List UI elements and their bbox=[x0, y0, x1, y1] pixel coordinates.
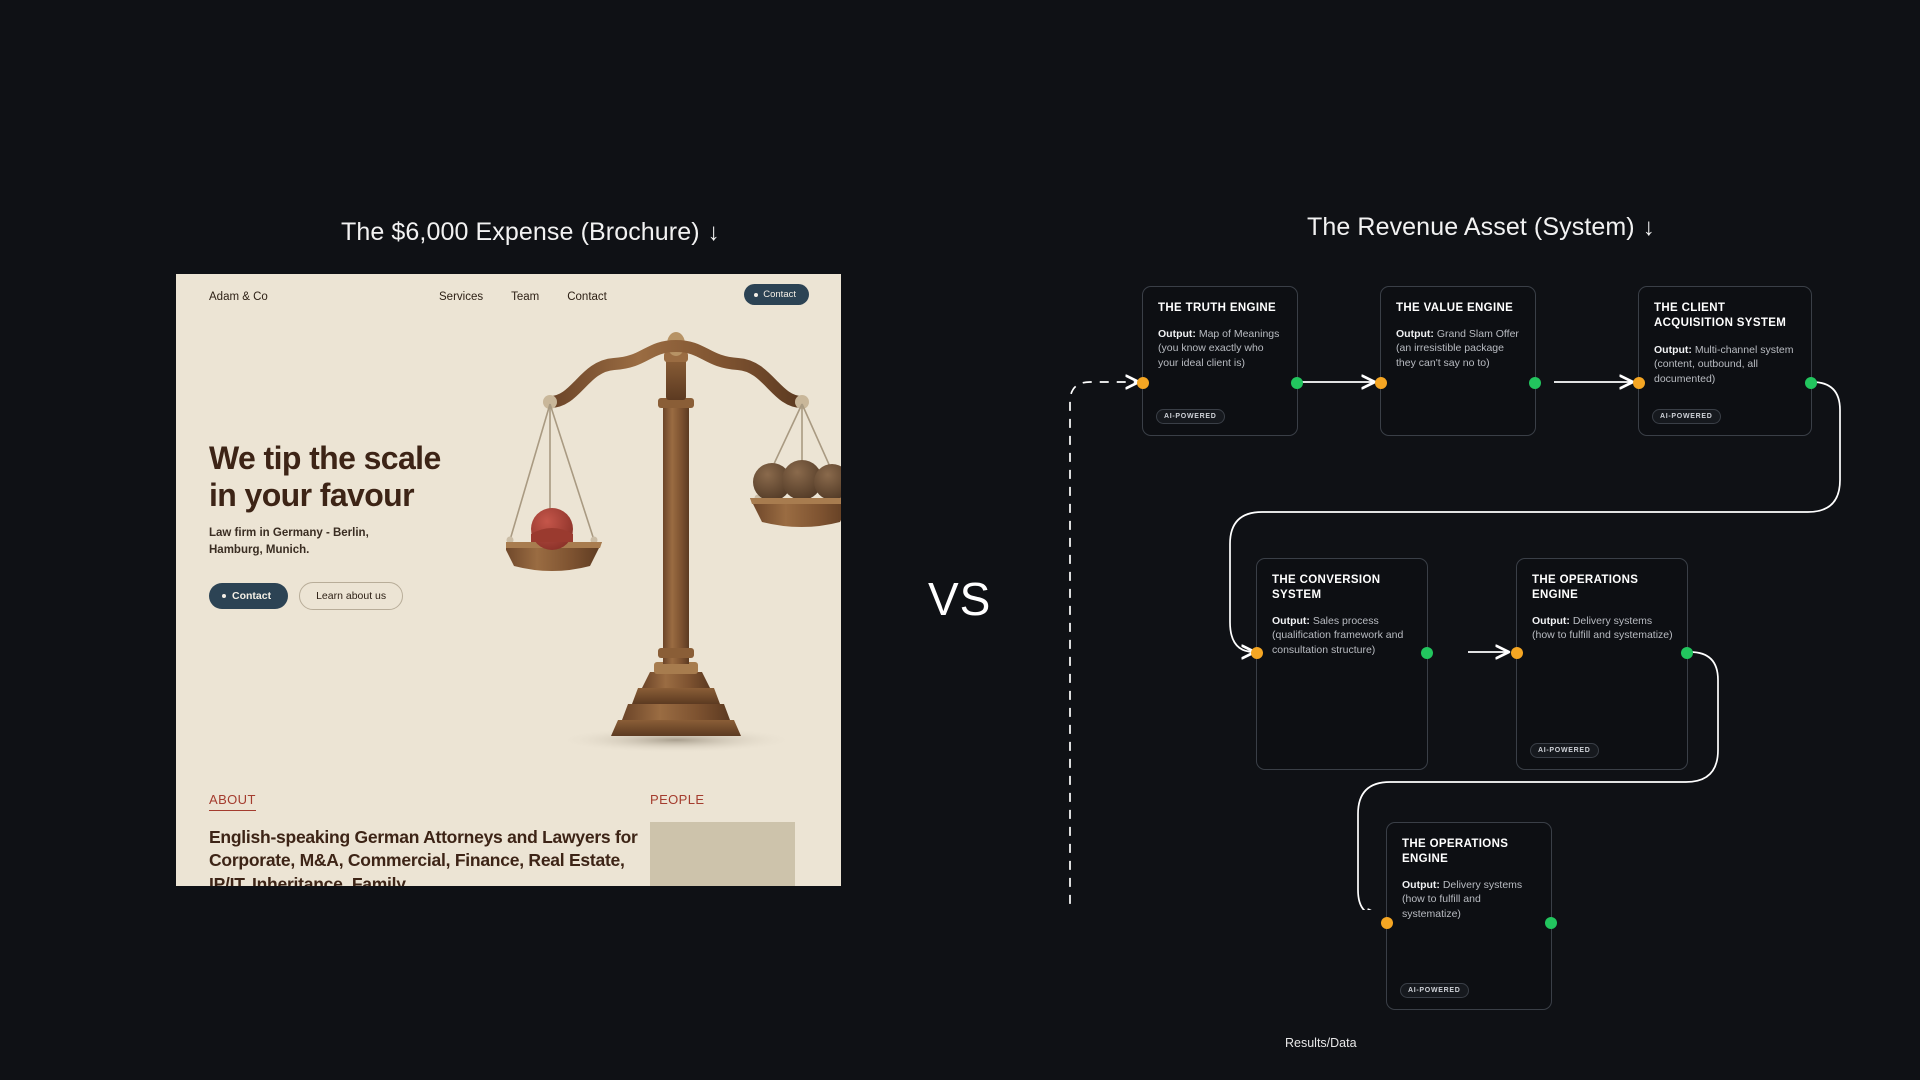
feedback-loop-label: Results/Data bbox=[1278, 1036, 1364, 1050]
ai-powered-badge: AI-POWERED bbox=[1652, 409, 1721, 424]
balance-scale-illustration bbox=[506, 322, 841, 762]
node-input-port[interactable] bbox=[1375, 377, 1387, 389]
node-output: Output: Grand Slam Offer (an irresistibl… bbox=[1396, 327, 1523, 370]
node-input-port[interactable] bbox=[1633, 377, 1645, 389]
node-output-port[interactable] bbox=[1529, 377, 1541, 389]
hero-title-line-1: We tip the scale bbox=[209, 440, 441, 477]
site-navbar: Adam & Co Services Team Contact Contact bbox=[176, 274, 841, 322]
output-prefix: Output: bbox=[1396, 328, 1434, 340]
people-section-kicker: PEOPLE bbox=[650, 792, 704, 807]
flow-node-operations-engine-row3[interactable]: THE OPERATIONS ENGINE Output: Delivery s… bbox=[1386, 822, 1552, 1010]
hero-button-group: Contact Learn about us bbox=[209, 582, 403, 610]
dot-icon bbox=[754, 293, 758, 297]
site-nav-links: Services Team Contact bbox=[439, 291, 607, 303]
flow-node-operations-engine-row2[interactable]: THE OPERATIONS ENGINE Output: Delivery s… bbox=[1516, 558, 1688, 770]
nav-contact-button-label: Contact bbox=[763, 289, 796, 300]
node-title: THE OPERATIONS ENGINE bbox=[1402, 837, 1539, 866]
node-output: Output: Multi-channel system (content, o… bbox=[1654, 343, 1799, 386]
node-input-port[interactable] bbox=[1251, 647, 1263, 659]
node-input-port[interactable] bbox=[1381, 917, 1393, 929]
nav-link-team[interactable]: Team bbox=[511, 291, 539, 303]
vs-separator-label: VS bbox=[928, 572, 991, 626]
node-input-port[interactable] bbox=[1137, 377, 1149, 389]
node-input-port[interactable] bbox=[1511, 647, 1523, 659]
flow-node-truth-engine[interactable]: THE TRUTH ENGINE Output: Map of Meanings… bbox=[1142, 286, 1298, 436]
node-title: THE OPERATIONS ENGINE bbox=[1532, 573, 1675, 602]
nav-link-contact[interactable]: Contact bbox=[567, 291, 607, 303]
node-output-port[interactable] bbox=[1681, 647, 1693, 659]
node-title: THE CONVERSION SYSTEM bbox=[1272, 573, 1415, 602]
hero-contact-button-label: Contact bbox=[232, 590, 271, 602]
node-output-port[interactable] bbox=[1291, 377, 1303, 389]
right-column-heading: The Revenue Asset (System)↓ bbox=[1307, 213, 1655, 242]
dot-icon bbox=[222, 594, 226, 598]
hero-contact-button[interactable]: Contact bbox=[209, 583, 288, 609]
output-prefix: Output: bbox=[1158, 328, 1196, 340]
right-heading-text: The Revenue Asset (System) bbox=[1307, 213, 1635, 241]
output-prefix: Output: bbox=[1654, 344, 1692, 356]
about-section-kicker: ABOUT bbox=[209, 792, 256, 811]
node-output: Output: Delivery systems (how to fulfill… bbox=[1402, 878, 1539, 921]
output-prefix: Output: bbox=[1272, 615, 1310, 627]
node-title: THE CLIENT ACQUISITION SYSTEM bbox=[1654, 301, 1799, 330]
nav-contact-button[interactable]: Contact bbox=[744, 284, 809, 305]
hero-subtitle: Law firm in Germany - Berlin, Hamburg, M… bbox=[209, 525, 409, 558]
hero-title-line-2: in your favour bbox=[209, 477, 441, 514]
revenue-system-flow-diagram: THE TRUTH ENGINE Output: Map of Meanings… bbox=[1050, 250, 1890, 910]
arrow-down-icon: ↓ bbox=[708, 219, 720, 247]
flow-node-conversion-system[interactable]: THE CONVERSION SYSTEM Output: Sales proc… bbox=[1256, 558, 1428, 770]
node-title: THE VALUE ENGINE bbox=[1396, 301, 1523, 316]
arrow-down-icon: ↓ bbox=[1643, 214, 1655, 242]
flow-node-client-acquisition-system[interactable]: THE CLIENT ACQUISITION SYSTEM Output: Mu… bbox=[1638, 286, 1812, 436]
ai-powered-badge: AI-POWERED bbox=[1530, 743, 1599, 758]
node-output: Output: Map of Meanings (you know exactl… bbox=[1158, 327, 1285, 370]
left-heading-text: The $6,000 Expense (Brochure) bbox=[341, 218, 700, 246]
brochure-website-mockup: Adam & Co Services Team Contact Contact bbox=[176, 274, 841, 886]
nav-link-services[interactable]: Services bbox=[439, 291, 483, 303]
node-output-port[interactable] bbox=[1421, 647, 1433, 659]
hero-title: We tip the scale in your favour bbox=[209, 440, 441, 515]
about-section-body: English-speaking German Attorneys and La… bbox=[209, 826, 649, 886]
left-column-heading: The $6,000 Expense (Brochure)↓ bbox=[341, 218, 720, 247]
people-thumbnail-placeholder bbox=[650, 822, 795, 886]
node-output: Output: Delivery systems (how to fulfill… bbox=[1532, 614, 1675, 643]
site-lower-section: ABOUT English-speaking German Attorneys … bbox=[176, 764, 841, 886]
output-prefix: Output: bbox=[1402, 879, 1440, 891]
flow-node-value-engine[interactable]: THE VALUE ENGINE Output: Grand Slam Offe… bbox=[1380, 286, 1536, 436]
hero-learn-more-button[interactable]: Learn about us bbox=[299, 582, 403, 610]
node-output: Output: Sales process (qualification fra… bbox=[1272, 614, 1415, 657]
ai-powered-badge: AI-POWERED bbox=[1156, 409, 1225, 424]
site-logo: Adam & Co bbox=[209, 291, 268, 303]
node-output-port[interactable] bbox=[1545, 917, 1557, 929]
node-title: THE TRUTH ENGINE bbox=[1158, 301, 1285, 316]
ai-powered-badge: AI-POWERED bbox=[1400, 983, 1469, 998]
output-prefix: Output: bbox=[1532, 615, 1570, 627]
node-output-port[interactable] bbox=[1805, 377, 1817, 389]
